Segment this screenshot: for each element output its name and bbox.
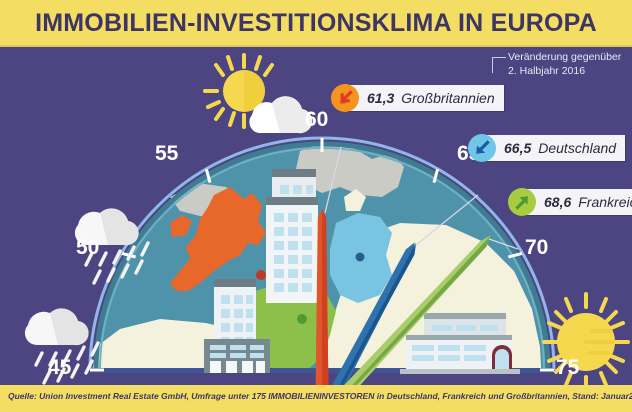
callout-frankreich[interactable]: 68,6 Frankreich bbox=[522, 189, 632, 215]
chart-panel: 45 50 55 60 65 70 75 Veränderung gegenüb… bbox=[0, 47, 632, 385]
annotation-leader-horizontal bbox=[492, 57, 506, 58]
source-bar: Quelle: Union Investment Real Estate Gmb… bbox=[0, 385, 632, 412]
arrow-down-left-icon-de bbox=[468, 134, 496, 162]
gauge-tick-label-45: 45 bbox=[48, 357, 71, 378]
callout-country-de: Deutschland bbox=[538, 140, 616, 156]
gauge-tick-label-70: 70 bbox=[525, 237, 548, 258]
arrow-up-right-icon-fr bbox=[508, 188, 536, 216]
arrow-down-left-icon-gb bbox=[331, 84, 359, 112]
office-tower-uk-2 bbox=[266, 197, 318, 303]
infographic-root: IMMOBILIEN-INVESTITIONSKLIMA IN EUROPA bbox=[0, 0, 632, 412]
annotation-line-1: Veränderung gegenüber bbox=[508, 50, 621, 64]
callout-country-fr: Frankreich bbox=[578, 194, 632, 210]
gauge-tick-label-75: 75 bbox=[556, 357, 579, 378]
callout-grossbritannien[interactable]: 61,3 Großbritannien bbox=[345, 85, 504, 111]
gauge-globe-graphic bbox=[0, 47, 632, 385]
gauge-tick-label-60: 60 bbox=[305, 109, 328, 130]
annotation-leader-vertical bbox=[492, 57, 493, 73]
city-marker-france bbox=[297, 314, 307, 324]
gauge-tick-label-50: 50 bbox=[76, 237, 99, 258]
city-marker-uk bbox=[256, 270, 266, 280]
callout-deutschland[interactable]: 66,5 Deutschland bbox=[482, 135, 625, 161]
callout-value-fr: 68,6 bbox=[544, 194, 571, 210]
callout-value-de: 66,5 bbox=[504, 140, 531, 156]
city-marker-germany bbox=[356, 253, 365, 262]
sun-behind-cloud-icon bbox=[205, 55, 312, 133]
callout-value-gb: 61,3 bbox=[367, 90, 394, 106]
page-title: IMMOBILIEN-INVESTITIONSKLIMA IN EUROPA bbox=[35, 9, 597, 38]
annotation-line-2: 2. Halbjahr 2016 bbox=[508, 64, 621, 78]
callout-country-gb: Großbritannien bbox=[401, 90, 494, 106]
source-text: Quelle: Union Investment Real Estate Gmb… bbox=[8, 391, 632, 401]
title-bar: IMMOBILIEN-INVESTITIONSKLIMA IN EUROPA bbox=[0, 0, 632, 47]
gauge-tick-label-55: 55 bbox=[155, 143, 178, 164]
